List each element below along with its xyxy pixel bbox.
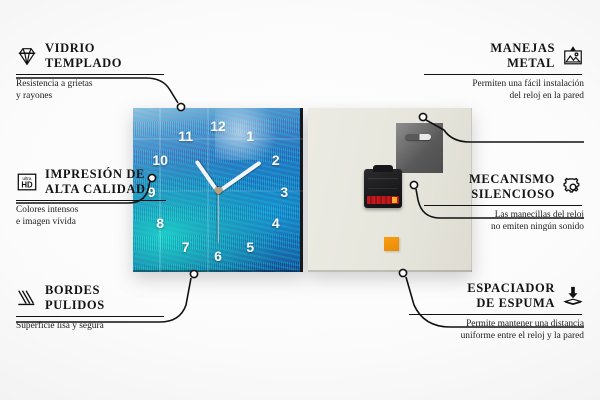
- callout-rule: [424, 205, 582, 207]
- clock-second-hand: [217, 191, 218, 243]
- clock-numeral-12: 12: [210, 119, 226, 133]
- callout-title: BORDES PULIDOS: [45, 283, 105, 313]
- callout-header: VIDRIO TEMPLADO: [16, 41, 166, 71]
- callout-description: Colores intensos e imagen vívida: [16, 204, 168, 228]
- picture-frame-icon: [562, 45, 584, 67]
- product-photo: 12 1 2 3 4 5 6 7 8 9 10 11: [133, 108, 472, 272]
- metal-hanger-part: [396, 123, 443, 173]
- callout-rule: [16, 200, 166, 202]
- clock-numeral-1: 1: [246, 129, 254, 143]
- clock-mechanism-part: [364, 169, 402, 208]
- clock-numeral-6: 6: [214, 249, 222, 263]
- svg-text:HD: HD: [21, 180, 33, 189]
- callout-mecanismo-silencioso: MECANISMO SILENCIOSO Las manecillas del …: [424, 172, 584, 233]
- callout-description: Las manecillas del reloj no emiten ningú…: [424, 209, 584, 233]
- clock-numeral-10: 10: [152, 153, 168, 167]
- mechanism-seam-1: [368, 178, 398, 179]
- callout-header: ESPACIADOR DE ESPUMA: [409, 281, 584, 311]
- callout-rule: [16, 74, 164, 76]
- callout-title: VIDRIO TEMPLADO: [45, 41, 122, 71]
- callout-impresion-alta-calidad: ultra HD IMPRESIÓN DE ALTA CALIDAD Color…: [16, 167, 168, 228]
- mechanism-seam-2: [368, 188, 398, 189]
- clock-numeral-3: 3: [280, 185, 288, 199]
- callout-rule: [424, 74, 582, 76]
- clock-numeral-11: 11: [178, 129, 193, 143]
- battery-part: [367, 196, 399, 204]
- callout-description: Permite mantener una distancia uniforme …: [409, 318, 584, 342]
- clock-numeral-2: 2: [272, 153, 280, 167]
- callout-header: ultra HD IMPRESIÓN DE ALTA CALIDAD: [16, 167, 168, 197]
- callout-header: BORDES PULIDOS: [16, 283, 166, 313]
- foam-spacer-part: [384, 237, 399, 251]
- ultra-hd-icon: ultra HD: [16, 171, 38, 193]
- callout-description: Superficie lisa y segura: [16, 320, 166, 332]
- clock-minute-hand: [217, 161, 262, 194]
- callout-header: MECANISMO SILENCIOSO: [424, 172, 584, 202]
- gear-icon: [562, 176, 584, 198]
- callout-manejas-metal: MANEJAS METAL Permiten una fácil instala…: [424, 41, 584, 102]
- clock-numeral-7: 7: [182, 240, 190, 254]
- callout-description: Permiten una fácil instalación del reloj…: [424, 78, 584, 102]
- callout-header: MANEJAS METAL: [424, 41, 584, 71]
- polished-edges-icon: [16, 287, 38, 309]
- clock-numeral-5: 5: [246, 240, 254, 254]
- callout-rule: [16, 316, 164, 318]
- callout-description: Resistencia a grietas y rayones: [16, 78, 166, 102]
- mechanism-grip: [373, 165, 393, 172]
- clock-center-hub: [215, 187, 222, 194]
- callout-title: IMPRESIÓN DE ALTA CALIDAD: [45, 167, 146, 197]
- callout-bordes-pulidos: BORDES PULIDOS Superficie lisa y segura: [16, 283, 166, 332]
- callout-espaciador-espuma: ESPACIADOR DE ESPUMA Permite mantener un…: [409, 281, 584, 342]
- callout-rule: [409, 314, 582, 316]
- foam-spacer-icon: [562, 285, 584, 307]
- infographic-canvas: 12 1 2 3 4 5 6 7 8 9 10 11: [0, 0, 600, 400]
- clock-numeral-4: 4: [272, 216, 280, 230]
- callout-vidrio-templado: VIDRIO TEMPLADO Resistencia a grietas y …: [16, 41, 166, 102]
- callout-title: ESPACIADOR DE ESPUMA: [467, 281, 555, 311]
- callout-title: MECANISMO SILENCIOSO: [469, 172, 555, 202]
- diamond-icon: [16, 45, 38, 67]
- callout-title: MANEJAS METAL: [490, 41, 555, 71]
